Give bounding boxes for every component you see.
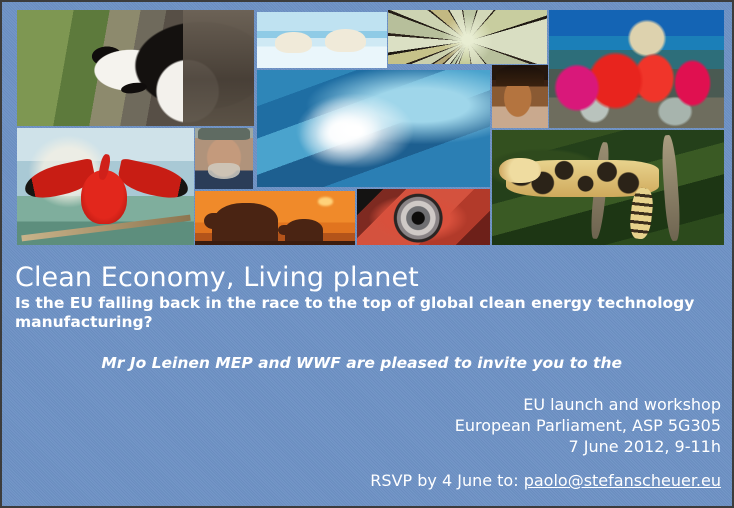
event-details: EU launch and workshop European Parliame…: [21, 394, 721, 457]
collage-tile-jaguar-in-tree: [492, 130, 724, 245]
rsvp-label: RSVP by 4 June to:: [370, 471, 523, 490]
collage-tile-giant-panda: [17, 10, 254, 126]
ocean-wave-image: [257, 70, 490, 187]
elder-beard: [208, 163, 240, 179]
collage-tile-coral-reef: [549, 10, 724, 128]
collage-tile-bird-eye: [357, 189, 490, 245]
polar-bears-image: [257, 12, 387, 68]
panda-nose: [121, 81, 148, 95]
elephants-sunset-image: [195, 191, 355, 245]
event-name: EU launch and workshop: [21, 394, 721, 415]
polar-bear-left: [275, 32, 311, 53]
page-title: Clean Economy, Living planet: [15, 263, 419, 293]
text-panel: Clean Economy, Living planet Is the EU f…: [2, 250, 732, 506]
collage-tile-scarlet-ibis: [17, 128, 194, 245]
rsvp-line: RSVP by 4 June to: paolo@stefanscheuer.e…: [21, 471, 721, 490]
collage-tile-ocean-wave: [257, 70, 490, 187]
calf-elephant-silhouette: [285, 219, 323, 243]
elder-hat: [198, 128, 249, 140]
elder-man-image: [195, 128, 253, 189]
bird-eye-image: [357, 189, 490, 245]
scarlet-ibis-image: [17, 128, 194, 245]
giant-panda-image: [17, 10, 254, 126]
collage-tile-elephants-sunset: [195, 191, 355, 245]
invitation-line: Mr Jo Leinen MEP and WWF are pleased to …: [2, 354, 622, 372]
ibis-right-wing: [116, 158, 192, 202]
ground-line: [195, 241, 355, 245]
polar-bear-right: [325, 29, 367, 53]
collage-tile-elder-man-portrait: [195, 128, 253, 189]
invitation-poster: Clean Economy, Living planet Is the EU f…: [0, 0, 734, 508]
jaguar-image: [492, 130, 724, 245]
collage-tile-polar-bears: [257, 12, 387, 68]
subtitle-question: Is the EU falling back in the race to th…: [15, 294, 705, 332]
rsvp-email-link[interactable]: paolo@stefanscheuer.eu: [524, 471, 721, 490]
tree-branch-2: [660, 134, 681, 241]
coral-reef-image: [549, 10, 724, 128]
forest-canopy-image: [388, 10, 547, 64]
jaguar-head: [499, 158, 541, 183]
event-datetime: 7 June 2012, 9-11h: [21, 436, 721, 457]
adult-elephant-silhouette: [214, 203, 278, 243]
event-venue: European Parliament, ASP 5G305: [21, 415, 721, 436]
sun: [318, 197, 332, 206]
collage-tile-forest-canopy: [388, 10, 547, 64]
collage-tile-smiling-girl: [492, 65, 548, 128]
smiling-girl-image: [492, 65, 548, 128]
photo-collage: [2, 2, 732, 250]
